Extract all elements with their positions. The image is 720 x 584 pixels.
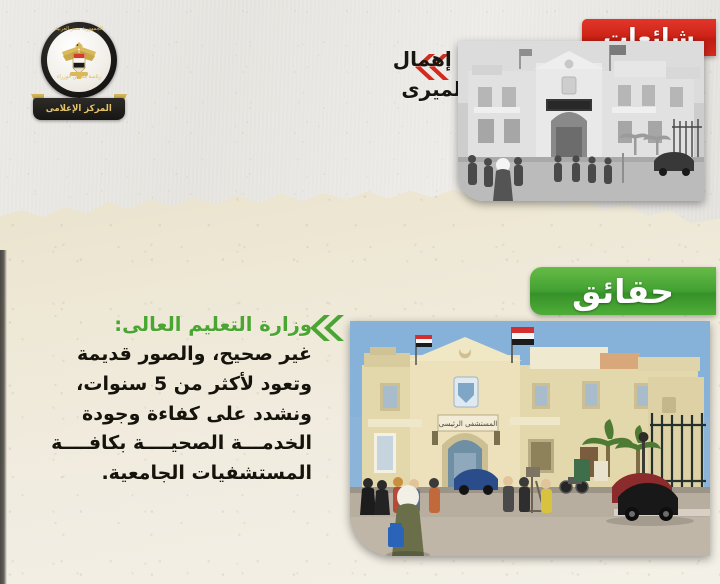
fact-line-1: غير صحيح، والصور قديمة bbox=[34, 340, 312, 370]
left-border-strip bbox=[0, 250, 7, 584]
organization-logo: الجمهورية مصر العربية رئاسة مجلس الوزراء bbox=[33, 22, 125, 126]
fact-line-4: الخدمـــة الصحيــــة بكافــــة bbox=[34, 429, 312, 459]
fact-heading: وزارة التعليم العالى: bbox=[34, 310, 312, 340]
logo-arc-top-label: الجمهورية مصر العربية bbox=[44, 26, 114, 32]
fact-line-2: وتعود لأكثر من 5 سنوات، bbox=[34, 370, 312, 400]
svg-text:المستشفى الرئيسى: المستشفى الرئيسى bbox=[439, 420, 497, 428]
hospital-building-illustration-color: المستشفى الرئيسى bbox=[350, 321, 710, 556]
hospital-photo-color: المستشفى الرئيسى bbox=[350, 321, 710, 556]
infographic-canvas: الجمهورية مصر العربية رئاسة مجلس الوزراء bbox=[0, 0, 720, 584]
facts-banner: حقائق bbox=[530, 267, 716, 315]
logo-ribbon: المركز الإعلامى bbox=[33, 98, 125, 120]
logo-arc-bottom-label: رئاسة مجلس الوزراء bbox=[44, 74, 114, 80]
logo-ribbon-label: المركز الإعلامى bbox=[46, 104, 112, 114]
fact-text-block: وزارة التعليم العالى: غير صحيح، والصور ق… bbox=[34, 310, 312, 489]
fact-line-3: ونشدد على كفاءة وجودة bbox=[34, 400, 312, 430]
fact-line-5: المستشفيات الجامعية. bbox=[34, 459, 312, 489]
hospital-building-illustration-grayscale bbox=[458, 41, 704, 201]
hospital-photo-grayscale bbox=[458, 41, 704, 201]
